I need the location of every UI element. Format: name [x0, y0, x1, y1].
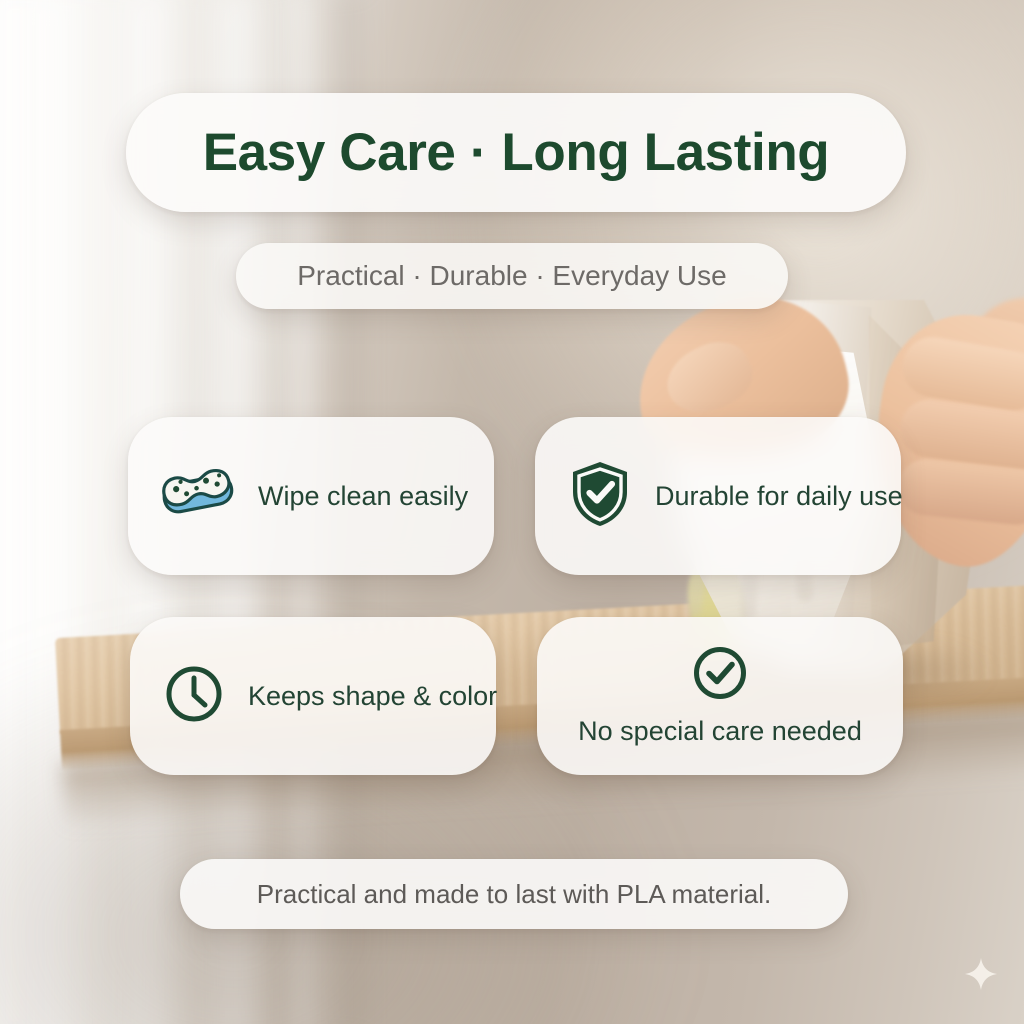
page-subtitle: Practical · Durable · Everyday Use	[297, 260, 726, 292]
feature-card-no-special-care[interactable]: No special care needed	[537, 617, 903, 775]
title-card: Easy Care · Long Lasting	[126, 93, 906, 212]
shield-check-icon	[569, 460, 631, 533]
subtitle-card: Practical · Durable · Everyday Use	[236, 243, 788, 309]
feature-card-durable[interactable]: Durable for daily use	[535, 417, 901, 575]
feature-label: No special care needed	[578, 716, 862, 747]
clock-icon	[164, 664, 224, 729]
sparkle-icon	[964, 957, 998, 996]
feature-label: Keeps shape & color	[248, 681, 497, 712]
infographic-canvas: Easy Care · Long Lasting Practical · Dur…	[0, 0, 1024, 1024]
footer-text: Practical and made to last with PLA mate…	[257, 879, 771, 910]
sponge-icon	[162, 465, 234, 528]
feature-card-keeps-shape[interactable]: Keeps shape & color	[130, 617, 496, 775]
footer-card: Practical and made to last with PLA mate…	[180, 859, 848, 929]
feature-label: Wipe clean easily	[258, 481, 468, 512]
page-title: Easy Care · Long Lasting	[203, 122, 830, 183]
feature-label: Durable for daily use	[655, 481, 903, 512]
check-circle-icon	[692, 645, 748, 706]
feature-card-wipe-clean[interactable]: Wipe clean easily	[128, 417, 494, 575]
